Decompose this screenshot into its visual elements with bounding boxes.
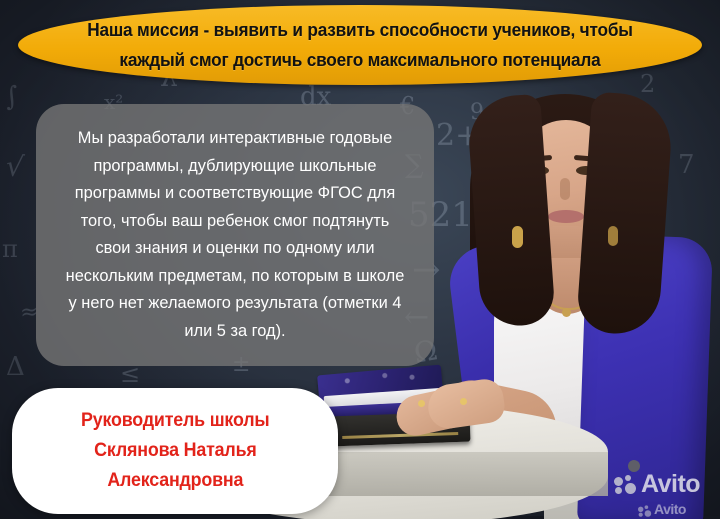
avito-watermark-small: Avito [638,502,686,516]
avito-watermark: Avito [614,472,700,497]
mission-banner-line-2: каждый смог достичь своего максимального… [81,45,639,75]
mission-banner-line-1: Наша миссия - выявить и развить способно… [81,15,639,45]
earring-left [512,226,523,248]
earring-right [608,226,618,246]
director-name-card: Руководитель школы Склянова Наталья Алек… [12,388,338,514]
description-text: Мы разработали интерактивные годовые про… [63,125,407,345]
avito-logo-icon-small [638,505,646,512]
description-panel: Мы разработали интерактивные годовые про… [36,104,434,366]
mission-banner-text: Наша миссия - выявить и развить способно… [81,15,639,75]
avito-watermark-label: Avito [641,472,700,497]
lips [548,210,584,223]
director-role: Руководитель школы [81,406,269,436]
avito-logo-icon [614,475,636,495]
director-name: Склянова Наталья [94,436,256,466]
director-patronymic: Александровна [107,466,243,496]
ring-left-hand [418,400,425,407]
promo-poster: ∫ x² √ π ≈ Δ + € 2+ ∑ 521 9 → ← Ω θ 0 2 … [0,0,720,519]
nose [560,178,570,200]
avito-watermark-label-small: Avito [654,502,686,516]
necklace-pendant [562,308,571,317]
mission-banner: Наша миссия - выявить и развить способно… [18,5,702,85]
blazer-button [628,460,640,472]
ring-right-hand [460,398,467,405]
